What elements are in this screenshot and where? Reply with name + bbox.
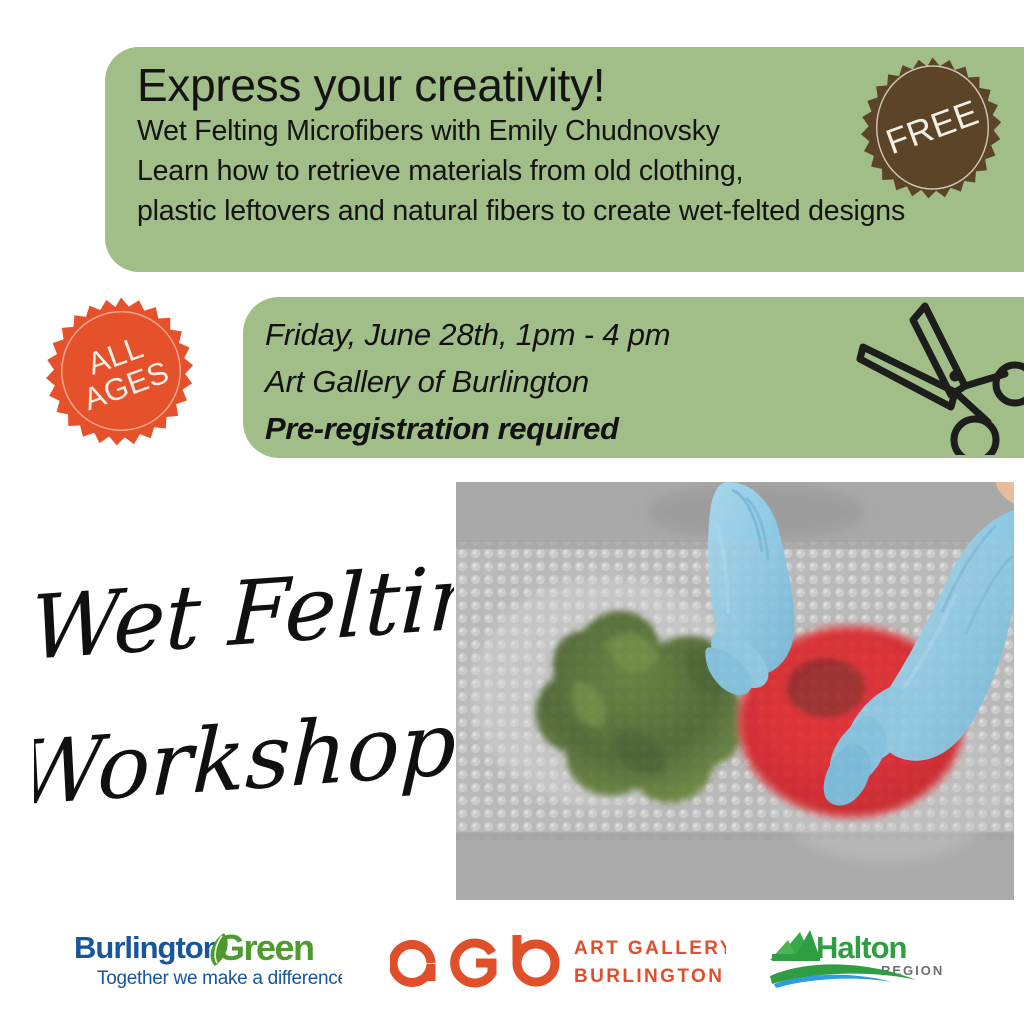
- free-badge: FREE: [861, 56, 1004, 199]
- workshop-title-line-1: Wet Felting: [34, 541, 454, 680]
- agb-line-1: ART GALLERY: [574, 938, 726, 959]
- halton-sub: REGION: [881, 963, 944, 978]
- partner-logos: Burlington Green Together we make a diff…: [0, 916, 1024, 1002]
- logo-burlington-green: Burlington Green Together we make a diff…: [74, 926, 342, 992]
- bgreen-word-2: Green: [217, 927, 314, 968]
- poster: Express your creativity! Wet Felting Mic…: [0, 0, 1024, 1024]
- starburst-icon: [861, 56, 1004, 199]
- agb-mark-icon: [393, 935, 555, 983]
- starburst-icon: [46, 296, 196, 446]
- scissors-icon: [855, 300, 1024, 455]
- halton-hills-icon: [770, 930, 820, 961]
- agb-line-2: BURLINGTON: [574, 966, 724, 987]
- workshop-photo: [456, 482, 1014, 900]
- all-ages-badge: ALL AGES: [46, 296, 196, 446]
- logo-art-gallery-burlington: ART GALLERY BURLINGTON: [390, 929, 726, 989]
- halton-name: Halton: [816, 930, 907, 965]
- logo-halton-region: Halton REGION: [764, 924, 954, 992]
- bgreen-word-1: Burlington: [74, 930, 221, 965]
- bgreen-tagline: Together we make a difference: [97, 968, 342, 989]
- workshop-title: Wet Felting Workshop: [34, 538, 454, 848]
- workshop-title-line-2: Workshop: [34, 692, 454, 826]
- scissors-pivot: [950, 371, 961, 382]
